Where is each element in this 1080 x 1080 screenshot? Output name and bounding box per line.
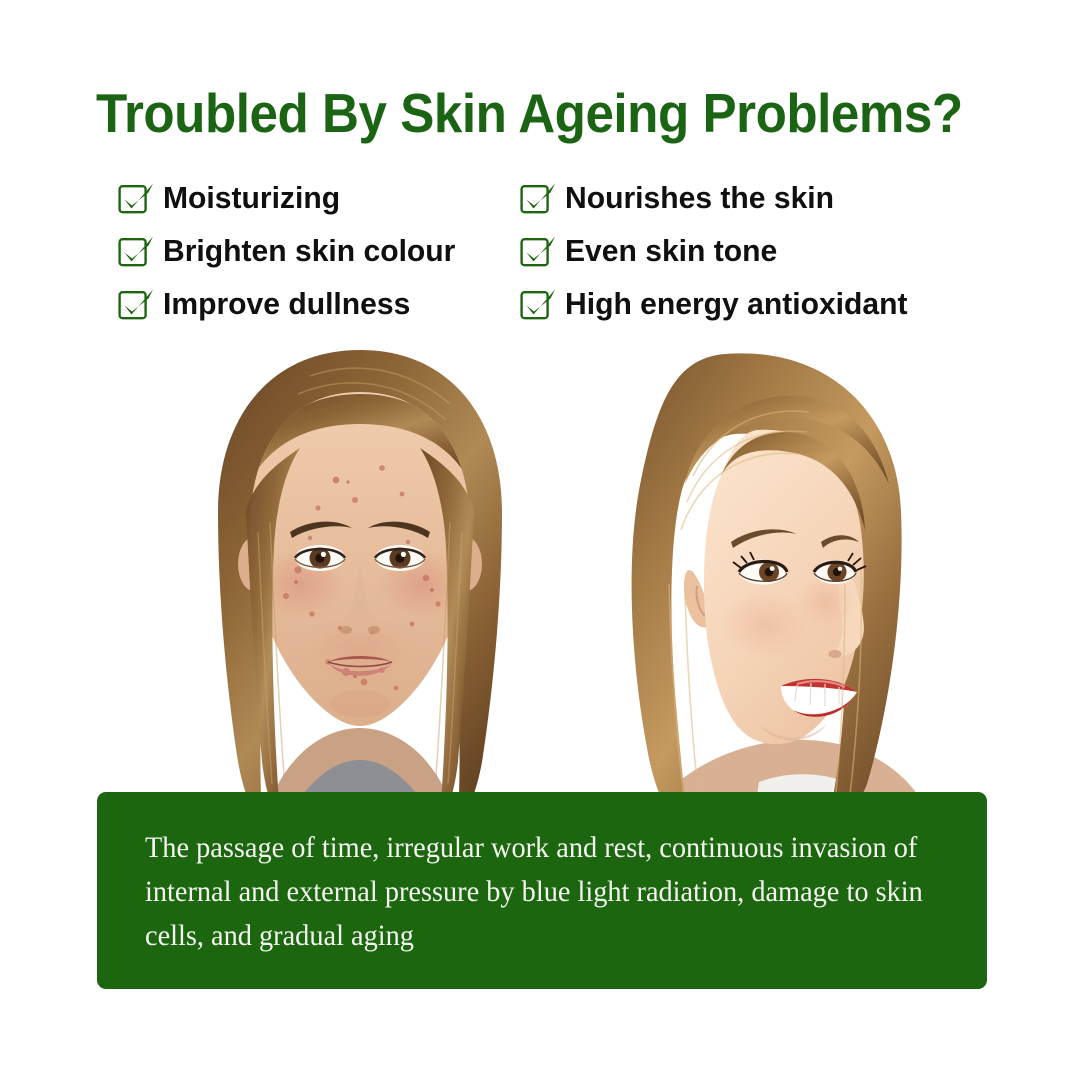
benefit-label: Brighten skin colour bbox=[163, 234, 455, 268]
checkbox-checked-icon bbox=[118, 289, 148, 319]
benefits-right-column: Nourishes the skin Even skin tone bbox=[520, 172, 1020, 331]
page-title: Troubled By Skin Ageing Problems? bbox=[96, 82, 952, 144]
benefit-label: Improve dullness bbox=[163, 287, 410, 321]
checkbox-checked-icon bbox=[520, 289, 550, 319]
benefit-label: Even skin tone bbox=[565, 234, 777, 268]
before-photo-blemished-skin bbox=[150, 332, 570, 832]
benefit-label: High energy antioxidant bbox=[565, 287, 908, 321]
description-panel: The passage of time, irregular work and … bbox=[97, 792, 987, 989]
benefit-label: Nourishes the skin bbox=[565, 181, 834, 215]
benefit-item: Improve dullness bbox=[118, 278, 518, 330]
checkbox-checked-icon bbox=[118, 236, 148, 266]
benefit-item: Brighten skin colour bbox=[118, 225, 518, 277]
benefit-label: Moisturizing bbox=[163, 181, 340, 215]
benefit-item: High energy antioxidant bbox=[520, 278, 1020, 330]
checkbox-checked-icon bbox=[520, 183, 550, 213]
checkbox-checked-icon bbox=[520, 236, 550, 266]
before-after-photo-pair bbox=[0, 332, 1080, 832]
benefit-item: Even skin tone bbox=[520, 225, 1020, 277]
benefit-item: Moisturizing bbox=[118, 172, 518, 224]
checkbox-checked-icon bbox=[118, 183, 148, 213]
skincare-infographic-poster: Troubled By Skin Ageing Problems? Moistu… bbox=[0, 0, 1080, 1080]
benefits-left-column: Moisturizing Brighten skin colour bbox=[118, 172, 518, 331]
after-photo-clear-skin bbox=[545, 344, 965, 832]
benefits-checklist: Moisturizing Brighten skin colour bbox=[0, 172, 1080, 332]
benefit-item: Nourishes the skin bbox=[520, 172, 1020, 224]
description-text: The passage of time, irregular work and … bbox=[145, 826, 932, 958]
